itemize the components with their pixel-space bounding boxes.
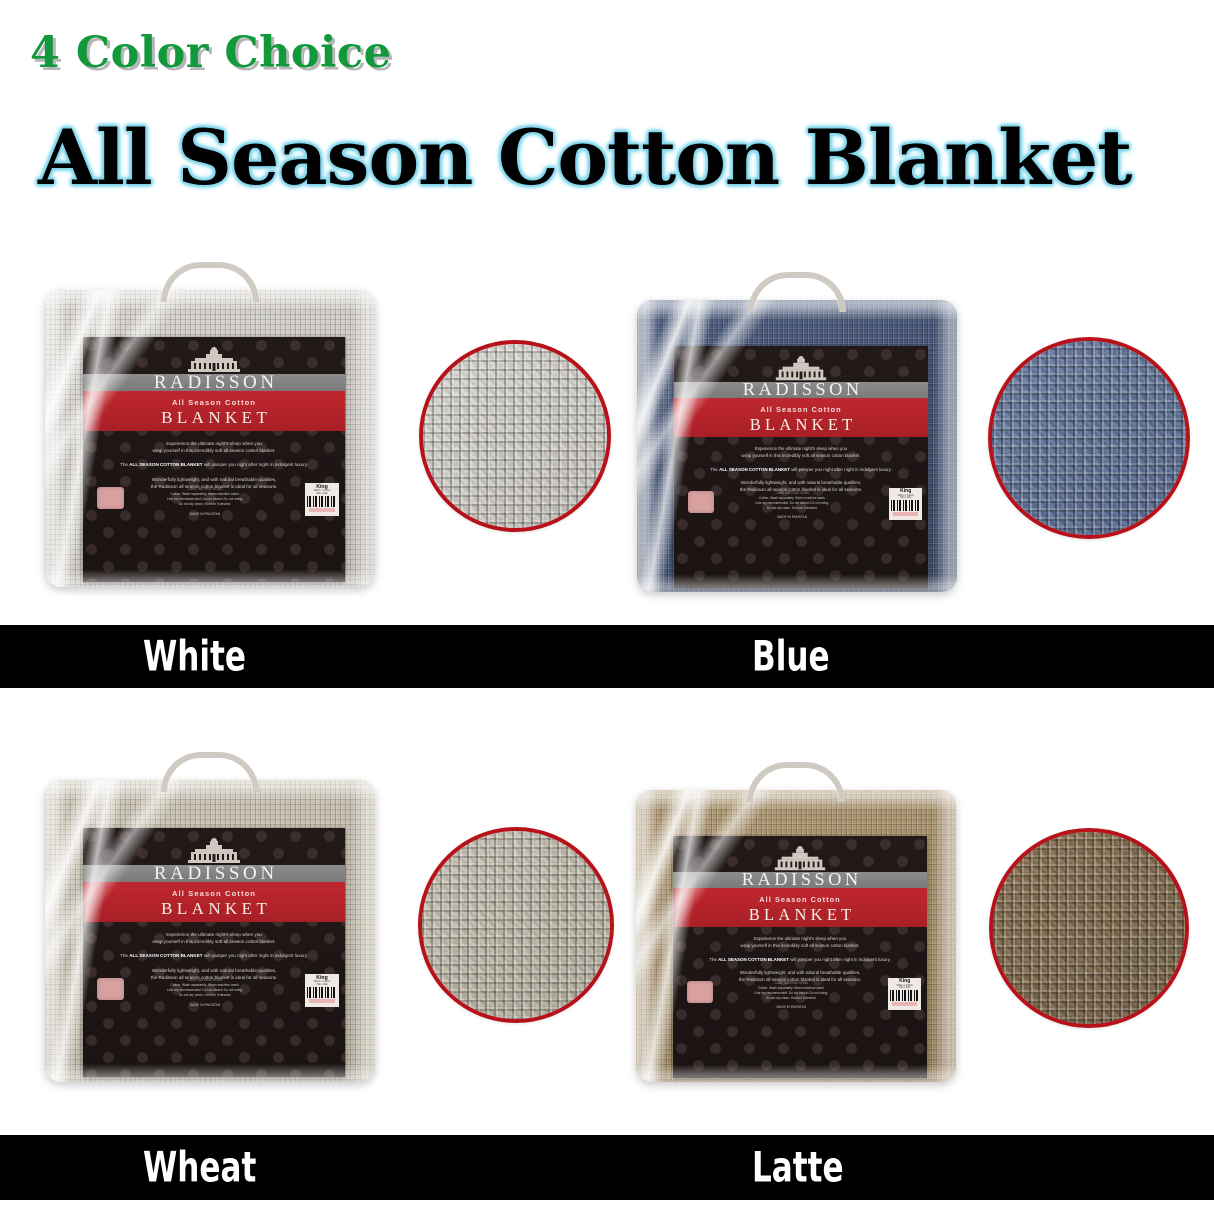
barcode-icon <box>891 500 920 511</box>
barcode-color-chip <box>309 508 335 512</box>
color-label-wheat: Wheat <box>143 1142 296 1191</box>
barcode-color-chip <box>892 1002 917 1006</box>
label-color-swatch <box>97 487 124 509</box>
swatch-texture <box>992 341 1186 535</box>
fabric-swatch-latte <box>989 828 1189 1028</box>
kicker-text: 4 Color Choice <box>30 28 391 78</box>
package-handle-icon <box>161 752 259 792</box>
care-instructions: CARE INSTRUCTIONSCotton. Wash separately… <box>723 981 859 1010</box>
fabric-swatch-wheat <box>418 827 614 1023</box>
product-subtitle: All Season Cotton <box>673 895 927 904</box>
product-package-blue: RADISSONAll Season CottonBLANKETExperien… <box>637 272 957 592</box>
size-dimensions-imperial: 79in x 94in <box>888 987 921 989</box>
product-type-name: BLANKET <box>83 899 345 919</box>
radisson-crest-icon <box>773 356 829 381</box>
package-handle-icon <box>161 262 259 302</box>
brand-name: RADISSON <box>674 381 928 398</box>
package-body: RADISSONAll Season CottonBLANKETExperien… <box>636 790 956 1082</box>
product-type-name: BLANKET <box>673 905 927 925</box>
color-label-white: White <box>143 631 282 680</box>
header-banner: 4 Color Choice All Season Cotton Blanket <box>0 0 1214 232</box>
package-handle-icon <box>748 272 846 312</box>
product-package-latte: RADISSONAll Season CottonBLANKETExperien… <box>636 762 956 1082</box>
fabric-swatch-blue <box>988 337 1190 539</box>
brand-name: RADISSON <box>83 865 345 883</box>
product-package-white: RADISSONAll Season CottonBLANKETExperien… <box>45 262 375 587</box>
label-color-swatch <box>97 978 124 1000</box>
radisson-label-card: RADISSONAll Season CottonBLANKETExperien… <box>83 828 345 1077</box>
size-barcode-block: King200cm x 240cm79in x 94in <box>888 978 921 1010</box>
care-instructions: CARE INSTRUCTIONSCotton. Wash separately… <box>724 491 860 520</box>
brand-name: RADISSON <box>83 374 345 392</box>
product-subtitle: All Season Cotton <box>674 405 928 414</box>
color-label-bar-row2: Wheat Latte <box>0 1135 1214 1200</box>
size-dimensions-imperial: 79in x 94in <box>889 497 922 499</box>
care-instructions: CARE INSTRUCTIONSCotton. Wash separately… <box>135 978 275 1008</box>
page-title: All Season Cotton Blanket <box>38 113 1131 202</box>
package-handle-icon <box>747 762 845 802</box>
size-barcode-block: King200cm x 240cm79in x 94in <box>889 488 922 520</box>
barcode-icon <box>890 990 919 1001</box>
radisson-label-card: RADISSONAll Season CottonBLANKETExperien… <box>674 346 928 588</box>
barcode-icon <box>307 496 337 507</box>
package-body: RADISSONAll Season CottonBLANKETExperien… <box>45 780 375 1082</box>
swatch-texture <box>993 832 1185 1024</box>
radisson-crest-icon <box>185 347 243 373</box>
radisson-crest-icon <box>185 838 243 864</box>
label-color-swatch <box>687 981 713 1002</box>
radisson-crest-icon <box>772 846 828 871</box>
product-subtitle: All Season Cotton <box>83 398 345 407</box>
size-barcode-block: King200cm x 240cm79in x 94in <box>305 483 339 516</box>
swatch-texture <box>423 344 607 528</box>
size-dimensions-imperial: 79in x 94in <box>305 493 339 496</box>
package-body: RADISSONAll Season CottonBLANKETExperien… <box>637 300 957 592</box>
barcode-icon <box>307 987 337 998</box>
fabric-swatch-white <box>419 340 611 532</box>
brand-name: RADISSON <box>673 871 927 888</box>
package-body: RADISSONAll Season CottonBLANKETExperien… <box>45 290 375 587</box>
swatch-texture <box>422 831 610 1019</box>
label-color-swatch <box>688 491 714 512</box>
radisson-label-card: RADISSONAll Season CottonBLANKETExperien… <box>83 337 345 582</box>
product-type-name: BLANKET <box>674 415 928 435</box>
product-type-name: BLANKET <box>83 408 345 428</box>
care-instructions: CARE INSTRUCTIONSCotton. Wash separately… <box>135 487 275 517</box>
size-barcode-block: King200cm x 240cm79in x 94in <box>305 974 339 1007</box>
product-package-wheat: RADISSONAll Season CottonBLANKETExperien… <box>45 752 375 1082</box>
product-subtitle: All Season Cotton <box>83 889 345 898</box>
barcode-color-chip <box>309 999 335 1003</box>
color-label-blue: Blue <box>752 631 857 680</box>
radisson-label-card: RADISSONAll Season CottonBLANKETExperien… <box>673 836 927 1078</box>
color-label-latte: Latte <box>752 1142 876 1191</box>
color-label-bar-row1: White Blue <box>0 625 1214 688</box>
size-dimensions-imperial: 79in x 94in <box>305 984 339 987</box>
barcode-color-chip <box>893 512 918 516</box>
